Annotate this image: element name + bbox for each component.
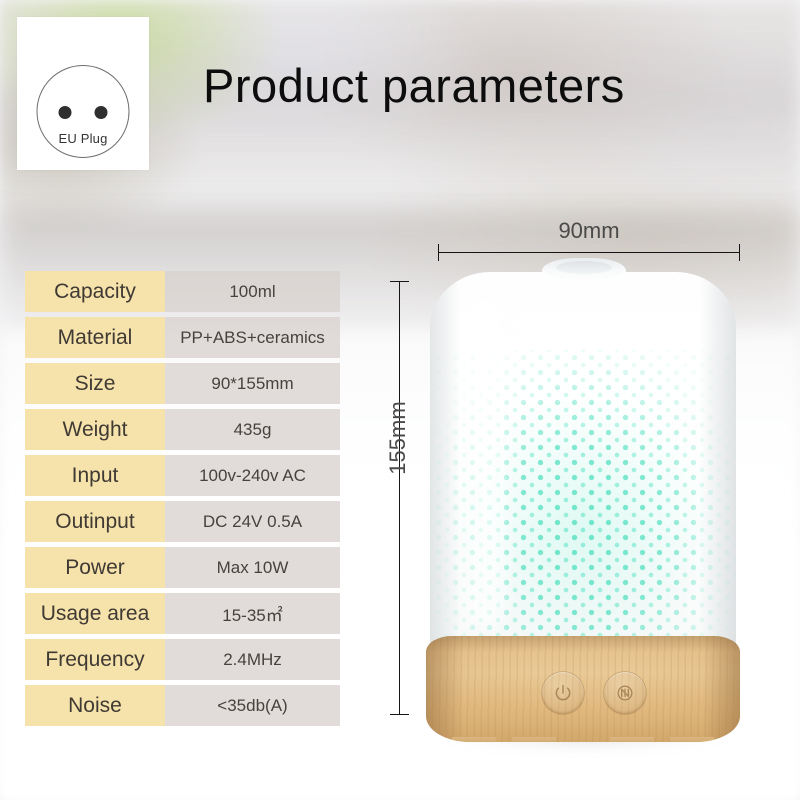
mist-outlet-opening [556, 261, 612, 274]
product-image-diffuser [424, 258, 744, 758]
power-icon [553, 683, 573, 703]
spec-value-material: PP+ABS+ceramics [165, 317, 340, 358]
base-top-shading [426, 636, 740, 652]
table-row: Input 100v-240v AC [25, 455, 340, 496]
spec-key-power: Power [25, 547, 165, 588]
spec-value-noise: <35db(A) [165, 685, 340, 726]
table-row: Noise <35db(A) [25, 685, 340, 726]
body-highlight [456, 296, 518, 626]
spec-key-input: Input [25, 455, 165, 496]
foot [452, 737, 496, 742]
height-dimension-tick-start [390, 281, 409, 282]
spec-key-weight: Weight [25, 409, 165, 450]
table-row: Weight 435g [25, 409, 340, 450]
spec-key-size: Size [25, 363, 165, 404]
height-dimension-line [399, 281, 400, 715]
table-row: Frequency 2.4MHz [25, 639, 340, 680]
spec-key-noise: Noise [25, 685, 165, 726]
spec-value-weight: 435g [165, 409, 340, 450]
spec-value-outinput: DC 24V 0.5A [165, 501, 340, 542]
spec-value-input: 100v-240v AC [165, 455, 340, 496]
table-row: Power Max 10W [25, 547, 340, 588]
page-title: Product parameters [203, 58, 625, 113]
spec-value-frequency: 2.4MHz [165, 639, 340, 680]
foot [610, 737, 654, 742]
spec-value-size: 90*155mm [165, 363, 340, 404]
spec-key-material: Material [25, 317, 165, 358]
plug-pin-left-icon [59, 106, 72, 119]
table-row: Capacity 100ml [25, 271, 340, 312]
light-mist-button[interactable] [604, 672, 646, 714]
width-dimension-tick-end [739, 244, 740, 261]
spec-key-capacity: Capacity [25, 271, 165, 312]
height-dimension-tick-end [390, 714, 409, 715]
light-mist-icon [615, 683, 635, 703]
spec-key-frequency: Frequency [25, 639, 165, 680]
spec-value-capacity: 100ml [165, 271, 340, 312]
foot [512, 737, 556, 742]
specifications-table: Capacity 100ml Material PP+ABS+ceramics … [25, 271, 340, 731]
base-feet [452, 735, 714, 742]
width-dimension-tick-start [438, 244, 439, 261]
height-dimension-label: 155mm [385, 378, 411, 498]
spec-key-usage-area: Usage area [25, 593, 165, 634]
foot [670, 737, 714, 742]
eu-plug-badge: EU Plug [17, 17, 149, 170]
diffuser-ceramic-body [430, 272, 736, 668]
table-row: Usage area 15-35㎡ [25, 593, 340, 634]
table-row: Material PP+ABS+ceramics [25, 317, 340, 358]
product-parameters-infographic: EU Plug Product parameters Capacity 100m… [0, 0, 800, 800]
wooden-base [426, 636, 740, 742]
power-button[interactable] [542, 672, 584, 714]
table-row: Size 90*155mm [25, 363, 340, 404]
spec-value-usage-area: 15-35㎡ [165, 593, 340, 634]
width-dimension-label: 90mm [438, 218, 740, 244]
plug-pin-right-icon [95, 106, 108, 119]
table-row: Outinput DC 24V 0.5A [25, 501, 340, 542]
eu-plug-label: EU Plug [17, 131, 149, 146]
spec-key-outinput: Outinput [25, 501, 165, 542]
width-dimension-line [438, 252, 740, 253]
spec-value-power: Max 10W [165, 547, 340, 588]
